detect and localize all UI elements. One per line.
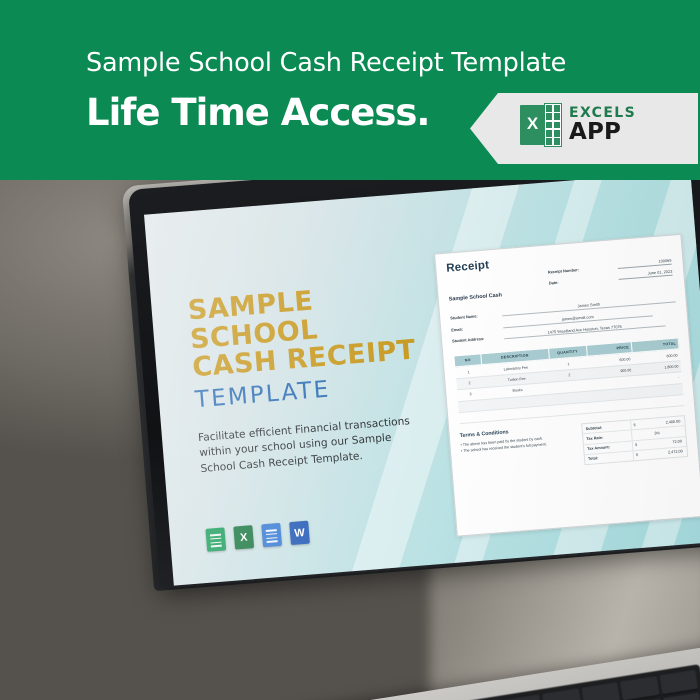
logo-line-2: APP <box>569 121 636 144</box>
word-icon-letter: W <box>289 521 310 545</box>
excel-x-letter: X <box>520 114 545 134</box>
laptop-photo-scene: SAMPLE SCHOOL CASH RECEIPT TEMPLATE Faci… <box>0 180 700 700</box>
excelsapp-logo[interactable]: X EXCELS APP <box>520 103 636 147</box>
banner-subtitle: Life Time Access. <box>86 91 429 134</box>
receipt-date-label: Date: <box>549 279 559 285</box>
student-name-label: Student Name: <box>450 311 502 320</box>
email-label: Email: <box>451 323 503 332</box>
excel-icon-letter: X <box>233 525 254 549</box>
student-address-label: Student Address: <box>452 335 504 344</box>
logo-line-1: EXCELS <box>569 106 636 120</box>
google-docs-icon[interactable] <box>261 523 282 547</box>
promo-image-canvas: Sample School Cash Receipt Template Life… <box>0 0 700 700</box>
google-sheets-icon[interactable] <box>205 527 226 551</box>
receipt-footer: Terms & Conditions The above has been pa… <box>460 415 689 475</box>
app-icon-row: X W <box>205 521 310 552</box>
microsoft-word-icon[interactable]: W <box>289 521 310 545</box>
top-banner: Sample School Cash Receipt Template Life… <box>0 0 700 180</box>
logo-wordmark: EXCELS APP <box>569 106 636 144</box>
receipt-document: Receipt Receipt Number: 100069 Date: Jun… <box>434 234 700 537</box>
excel-x-icon: X <box>520 103 562 147</box>
microsoft-excel-icon[interactable]: X <box>233 525 254 549</box>
receipt-date-value: June 01, 2023 <box>618 269 672 280</box>
banner-title: Sample School Cash Receipt Template <box>86 48 566 78</box>
excel-grid-icon <box>544 103 562 147</box>
receipt-number-label: Receipt Number: <box>548 267 579 274</box>
receipt-line-items-table: NO DESCRIPTION QUANTITY PRICE TOTAL 1 La… <box>453 338 684 425</box>
terms-and-conditions: Terms & Conditions The above has been pa… <box>460 424 579 475</box>
laptop-lid: SAMPLE SCHOOL CASH RECEIPT TEMPLATE Faci… <box>128 180 700 609</box>
receipt-fields: Student Name: James Smith Email: james@e… <box>450 295 678 343</box>
laptop-screen: SAMPLE SCHOOL CASH RECEIPT TEMPLATE Faci… <box>144 180 700 586</box>
slide-text-block: SAMPLE SCHOOL CASH RECEIPT TEMPLATE Faci… <box>187 278 451 477</box>
laptop-keyboard[interactable] <box>146 664 700 700</box>
receipt-summary: Subtotal: $ 2,400.00 Tax Rate: 3% Tax Am… <box>581 415 688 465</box>
